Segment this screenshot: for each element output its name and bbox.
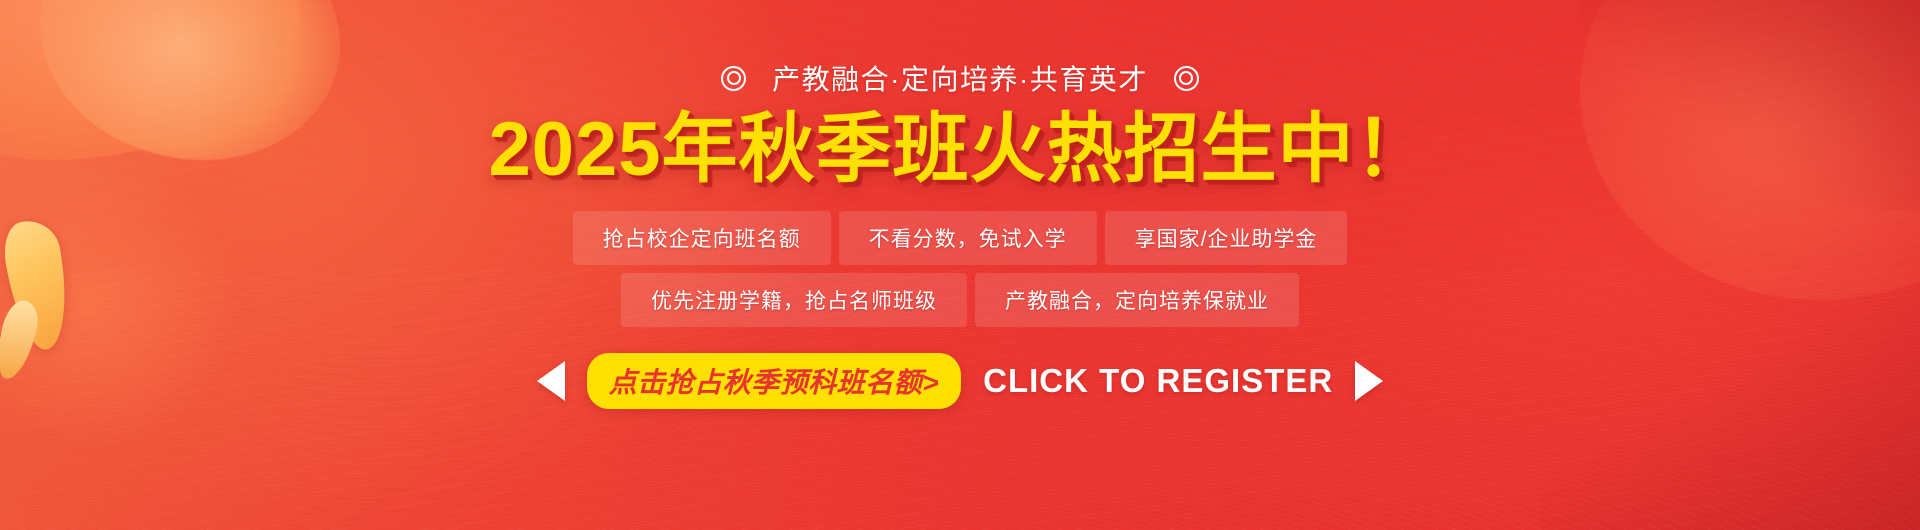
register-cta-button[interactable]: 点击抢占秋季预科班名额> [587, 353, 961, 409]
cta-row[interactable]: 点击抢占秋季预科班名额> CLICK TO REGISTER [537, 353, 1383, 409]
feature-pill: 抢占校企定向班名额 [573, 211, 831, 265]
double-ring-icon-right [1174, 66, 1199, 91]
feature-pill-group: 抢占校企定向班名额 不看分数，免试入学 享国家/企业助学金 优先注册学籍，抢占名… [573, 211, 1348, 327]
feature-pill: 不看分数，免试入学 [839, 211, 1097, 265]
banner-content: 产教融合·定向培养·共育英才 2025年秋季班火热招生中！ 抢占校企定向班名额 … [0, 0, 1920, 530]
tagline: 产教融合·定向培养·共育英才 [721, 58, 1199, 98]
feature-pill: 产教融合，定向培养保就业 [975, 273, 1299, 327]
arrow-left-icon [537, 361, 565, 401]
feature-pill-row-2: 优先注册学籍，抢占名师班级 产教融合，定向培养保就业 [621, 273, 1299, 327]
promo-banner: 产教融合·定向培养·共育英才 2025年秋季班火热招生中！ 抢占校企定向班名额 … [0, 0, 1920, 530]
feature-pill: 优先注册学籍，抢占名师班级 [621, 273, 967, 327]
register-cta-english-label[interactable]: CLICK TO REGISTER [983, 362, 1333, 400]
feature-pill: 享国家/企业助学金 [1105, 211, 1348, 265]
headline: 2025年秋季班火热招生中！ [488, 110, 1431, 191]
tagline-text: 产教融合·定向培养·共育英才 [772, 58, 1148, 98]
feature-pill-row-1: 抢占校企定向班名额 不看分数，免试入学 享国家/企业助学金 [573, 211, 1348, 265]
double-ring-icon-left [721, 66, 746, 91]
arrow-right-icon [1355, 361, 1383, 401]
